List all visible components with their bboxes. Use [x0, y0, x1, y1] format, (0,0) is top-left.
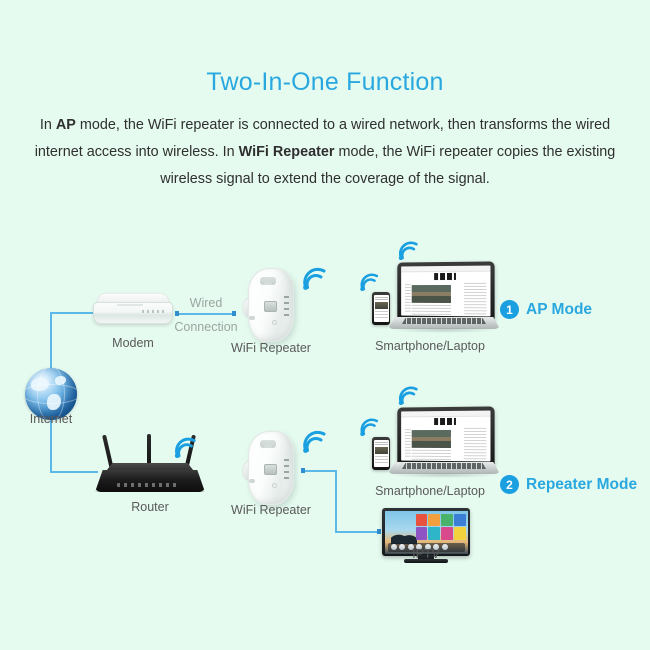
connector-globe-to-modem-horizontal [50, 312, 94, 314]
wired-cap-right [232, 311, 236, 316]
wifi-signal-icon-laptop-ap [396, 240, 420, 260]
laptop-icon-repeater-mode [388, 407, 500, 479]
modem-label: Modem [103, 336, 163, 350]
client-label-ap: Smartphone/Laptop [374, 339, 486, 353]
wifi-signal-icon-router [172, 436, 198, 458]
modem-icon [93, 292, 173, 328]
laptop-icon-ap [388, 262, 500, 334]
intro-paragraph: In AP mode, the WiFi repeater is connect… [20, 112, 630, 193]
repeater-label-ap: WiFi Repeater [226, 341, 316, 355]
router-label: Router [120, 500, 180, 514]
wired-connection-label-line2: Connection [168, 320, 244, 334]
wired-cap-left [175, 311, 179, 316]
intro-bold-ap: AP [56, 117, 76, 133]
mode-label-repeater: Repeater Mode [526, 476, 637, 494]
mode-badge-1: 1 [500, 300, 519, 319]
intro-part-1: In [40, 117, 56, 133]
wifi-signal-icon-phone-repeater-mode [358, 417, 380, 436]
mode-indicator-ap: 1 AP Mode [500, 300, 592, 319]
repeater-label-repeater-mode: WiFi Repeater [226, 503, 316, 517]
wifi-signal-icon-phone-ap [358, 272, 380, 291]
wifi-signal-icon-repeater-out [300, 429, 328, 453]
tv-label: IPTV [396, 547, 456, 561]
intro-bold-wifi-repeater: WiFi Repeater [239, 144, 335, 160]
tv-link-cap-left [301, 468, 305, 473]
internet-label: Internet [21, 412, 81, 426]
wifi-signal-icon-laptop-repeater-mode [396, 385, 420, 405]
connector-wired-modem-repeater [177, 313, 235, 315]
wifi-repeater-icon-ap [242, 268, 298, 342]
connector-repeater-to-tv-horizontal-2 [335, 531, 380, 533]
tv-link-cap-right [377, 529, 381, 534]
wifi-signal-icon-repeater-ap [300, 266, 328, 290]
connector-repeater-to-tv-horizontal-1 [303, 470, 336, 472]
page-title: Two-In-One Function [0, 68, 650, 97]
connector-repeater-to-tv-vertical [335, 470, 337, 532]
mode-label-ap: AP Mode [526, 301, 592, 319]
connector-globe-to-router-vertical [50, 420, 52, 472]
mode-indicator-repeater: 2 Repeater Mode [500, 475, 637, 494]
connector-globe-to-modem-vertical [50, 312, 52, 368]
wired-connection-label-line1: Wired [176, 296, 236, 310]
connector-globe-to-router-horizontal [50, 471, 98, 473]
mode-badge-2: 2 [500, 475, 519, 494]
wifi-repeater-icon-repeater-mode [242, 431, 298, 505]
client-label-repeater-mode: Smartphone/Laptop [374, 484, 486, 498]
